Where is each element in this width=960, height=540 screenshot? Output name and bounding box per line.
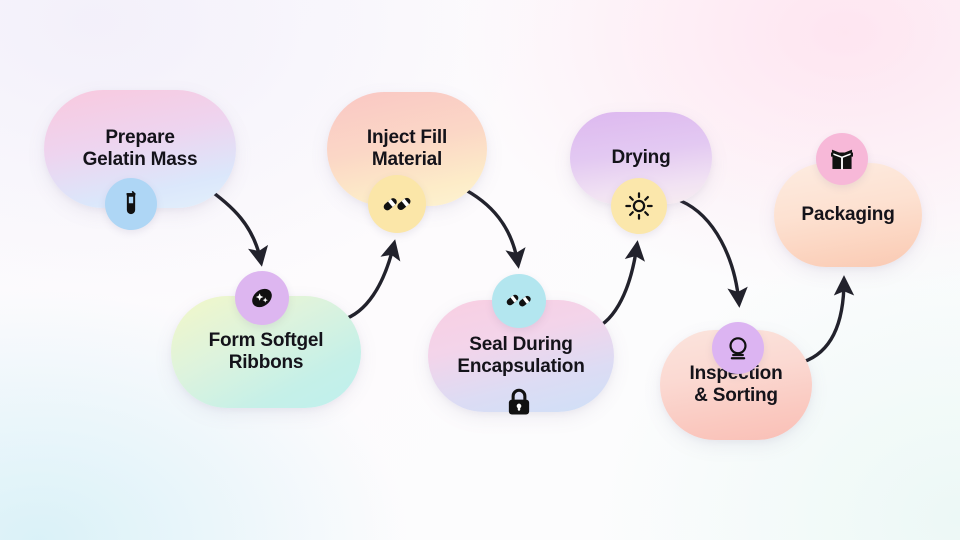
sun-icon <box>624 191 654 221</box>
capsules-icon-badge <box>368 175 426 233</box>
capsules-sealed-icon <box>504 286 534 316</box>
package-box-icon <box>828 145 856 173</box>
edge-prepare-to-form <box>204 186 261 262</box>
node-label: Drying <box>600 147 683 169</box>
sparkle-gem-icon <box>247 283 277 313</box>
lock-icon-wrapper <box>500 383 538 421</box>
edge-form-to-inject <box>342 244 394 320</box>
inspection-lamp-icon <box>724 334 752 362</box>
test-tube-icon <box>117 190 145 218</box>
node-label: Prepare Gelatin Mass <box>71 127 210 171</box>
package-box-icon-badge <box>816 133 868 185</box>
edge-inject-to-seal <box>460 187 518 264</box>
node-label: Packaging <box>789 204 906 226</box>
edge-drying-to-inspection <box>681 201 739 303</box>
lock-icon <box>503 386 535 418</box>
sun-icon-badge <box>611 178 667 234</box>
node-label: Inject Fill Material <box>355 127 459 171</box>
node-label: Form Softgel Ribbons <box>197 330 336 374</box>
capsules-sealed-icon-badge <box>492 274 546 328</box>
node-label: Seal During Encapsulation <box>445 334 596 378</box>
inspection-lamp-icon-badge <box>712 322 764 374</box>
test-tube-icon-badge <box>105 178 157 230</box>
edge-inspection-to-packaging <box>803 280 844 362</box>
diagram-canvas: Prepare Gelatin Mass Form Softgel Ribbon… <box>0 0 960 540</box>
connector-layer <box>0 0 960 540</box>
sparkle-gem-icon-badge <box>235 271 289 325</box>
capsules-icon <box>381 188 413 220</box>
